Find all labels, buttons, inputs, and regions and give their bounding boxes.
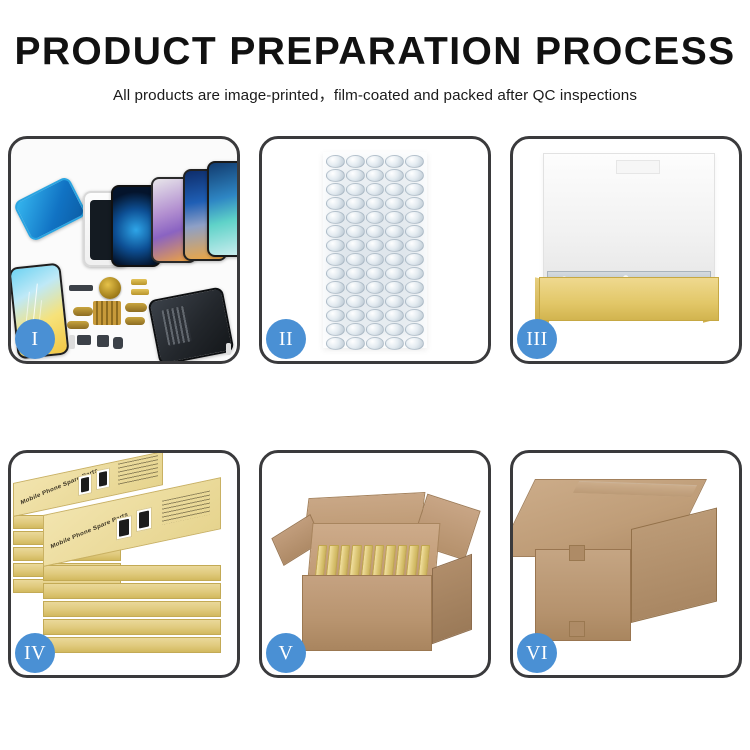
screwdriver-part (226, 343, 231, 355)
step-badge-4: IV (15, 633, 55, 673)
step-panel-1: I (8, 136, 240, 364)
carton-front-face (302, 575, 432, 651)
bubble (405, 337, 424, 350)
bubble (346, 337, 365, 350)
stacked-box-r1 (43, 565, 221, 581)
sealed-carton-side-face (631, 508, 717, 623)
bubble (326, 155, 345, 168)
bubble (405, 323, 424, 336)
bubble (326, 211, 345, 224)
bubble (405, 295, 424, 308)
box-spec-lines-upper (118, 455, 158, 486)
step-badge-2: II (266, 319, 306, 359)
bubble (326, 337, 345, 350)
bubble (366, 253, 385, 266)
bubble (326, 169, 345, 182)
box-spec-lines-front (162, 491, 210, 525)
page-title: PRODUCT PREPARATION PROCESS (0, 30, 750, 74)
step-panel-3: III (510, 136, 742, 364)
ribbon-cable-part-c (125, 303, 147, 312)
flex-cable-part-a (131, 279, 147, 285)
bubble (405, 183, 424, 196)
bubble (326, 239, 345, 252)
bubble (366, 155, 385, 168)
bubble (346, 225, 365, 238)
bubble (405, 253, 424, 266)
bubble (385, 211, 404, 224)
bubble (346, 183, 365, 196)
phone-motherboard (147, 286, 234, 361)
button-part (113, 337, 123, 349)
bubble (385, 253, 404, 266)
ribbon-cable-part-b (67, 321, 89, 329)
bubble (385, 309, 404, 322)
bubble (405, 225, 424, 238)
step-panel-6: VI (510, 450, 742, 678)
bubble (385, 197, 404, 210)
step-badge-1: I (15, 319, 55, 359)
bubble (346, 197, 365, 210)
screw-mat-part (93, 301, 121, 325)
step-panel-4: Mobile Phone Spare Parts Mobile Phone Sp… (8, 450, 240, 678)
page-subtitle: All products are image-printed，film-coat… (0, 83, 750, 105)
carton-side-face (432, 554, 472, 645)
bubble (346, 267, 365, 280)
process-steps-grid: I II III (8, 136, 742, 684)
bubble (385, 225, 404, 238)
step-badge-6: VI (517, 633, 557, 673)
speaker-coil-part (99, 277, 121, 299)
bubble (385, 155, 404, 168)
carton-tab-lower (569, 621, 585, 637)
stacked-box-r5 (43, 637, 221, 653)
kraft-box-base (539, 277, 719, 321)
bubble (385, 323, 404, 336)
header: PRODUCT PREPARATION PROCESS All products… (0, 0, 750, 105)
step-panel-5: V (259, 450, 491, 678)
bubble (385, 169, 404, 182)
bubble (405, 239, 424, 252)
bubble (346, 323, 365, 336)
ribbon-cable-part-d (125, 317, 145, 325)
flex-cable-part-b (131, 289, 149, 295)
bubble (385, 267, 404, 280)
bubble-wrap-sheet (323, 152, 427, 348)
bubble (346, 211, 365, 224)
stacked-box-r2 (43, 583, 221, 599)
bubble (366, 183, 385, 196)
bubble (366, 169, 385, 182)
box-window-front-a (116, 515, 132, 540)
step-badge-3: III (517, 319, 557, 359)
bubble (385, 183, 404, 196)
bubble (405, 169, 424, 182)
phone-teal (207, 161, 237, 257)
bubble (405, 197, 424, 210)
bubble (405, 309, 424, 322)
bubble (346, 155, 365, 168)
bubble (326, 225, 345, 238)
bubble (385, 337, 404, 350)
bubble (405, 267, 424, 280)
stacked-box-r3 (43, 601, 221, 617)
step-panel-2: II (259, 136, 491, 364)
bubble (346, 281, 365, 294)
bubble (326, 253, 345, 266)
camera-module-part (77, 335, 91, 345)
bubble (346, 169, 365, 182)
bubble (366, 211, 385, 224)
ribbon-cable-part-a (73, 307, 93, 316)
bubble (366, 309, 385, 322)
bubble (326, 309, 345, 322)
box-window-front-b (136, 507, 152, 532)
bubble (346, 309, 365, 322)
bubble (405, 211, 424, 224)
box-window-upper-b (96, 467, 110, 490)
bubble (346, 239, 365, 252)
bubble (385, 281, 404, 294)
bubble (326, 183, 345, 196)
carton-tab-upper (569, 545, 585, 561)
stacked-box-r4 (43, 619, 221, 635)
vibrator-part (97, 335, 109, 347)
bubble (405, 281, 424, 294)
bubble (326, 197, 345, 210)
bubble (366, 323, 385, 336)
bubble (326, 295, 345, 308)
bubble (366, 337, 385, 350)
bubble (326, 267, 345, 280)
bubble (405, 155, 424, 168)
box-lid-white (543, 153, 715, 281)
bubble-grid (326, 155, 424, 345)
step-badge-5: V (266, 633, 306, 673)
bubble (346, 295, 365, 308)
blue-adhesive-film (12, 175, 87, 242)
box-lid-tab (616, 160, 660, 174)
bubble (366, 239, 385, 252)
bubble (385, 239, 404, 252)
bubble (326, 281, 345, 294)
bubble (385, 295, 404, 308)
bubble (366, 295, 385, 308)
bubble (326, 323, 345, 336)
bubble (366, 281, 385, 294)
earpiece-part (69, 285, 93, 291)
sim-tray-part (69, 335, 75, 349)
bubble (366, 267, 385, 280)
bubble (346, 253, 365, 266)
box-window-upper-a (78, 473, 92, 496)
bubble (366, 197, 385, 210)
bubble (366, 225, 385, 238)
